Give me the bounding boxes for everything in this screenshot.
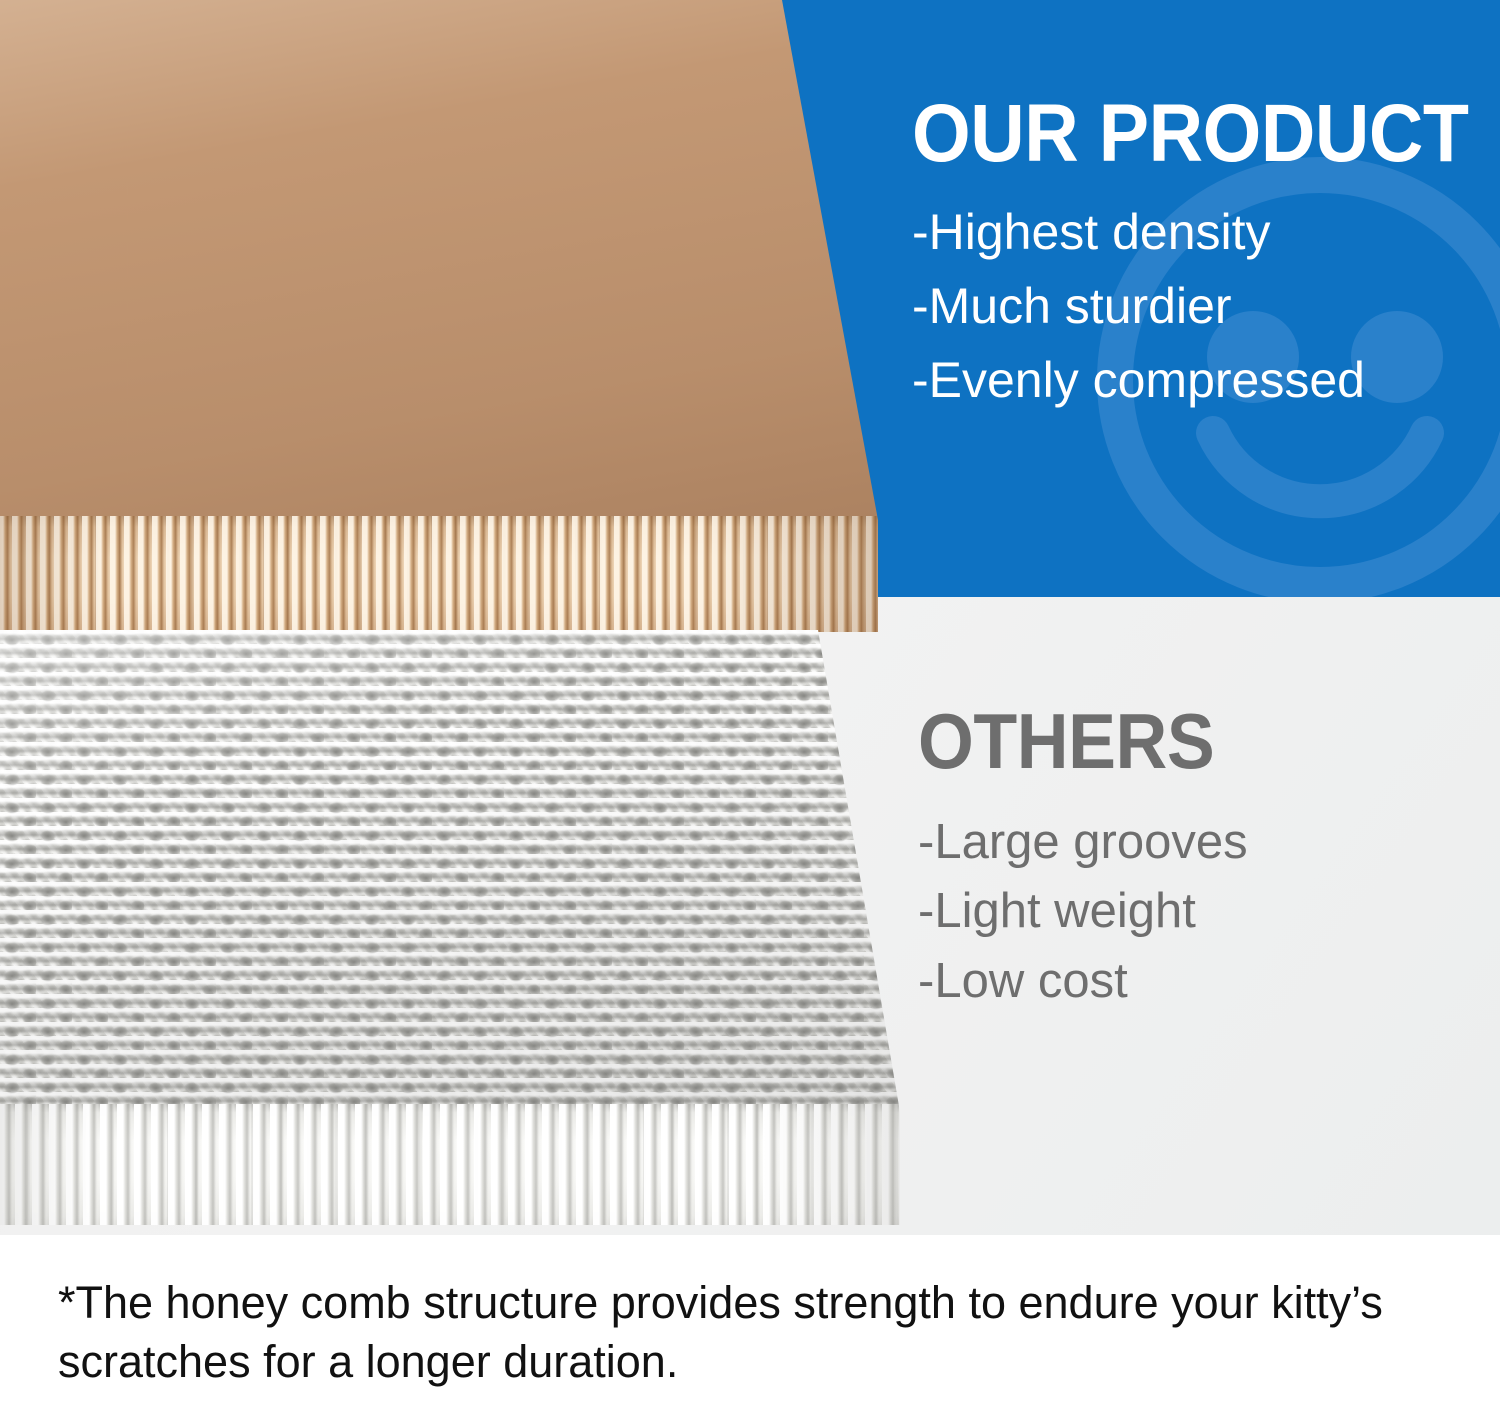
others-text-block: OTHERS -Large grooves -Light weight -Low… [918,706,1494,1016]
others-cardboard-image [0,630,930,1230]
tan-honeycomb-face [0,0,880,522]
our-product-cardboard-image [0,0,880,640]
infographic-canvas: OUR PRODUCT -Highest density -Much sturd… [0,0,1500,1423]
our-product-heading: OUR PRODUCT [912,96,1442,171]
others-bullet-list: -Large grooves -Light weight -Low cost [918,808,1494,1017]
others-bullet-2: -Light weight [918,877,1494,947]
footnote-caption: *The honey comb structure provides stren… [58,1274,1458,1391]
white-honeycomb-face [0,630,930,1110]
others-bullet-1: -Large grooves [918,808,1494,878]
our-product-text-block: OUR PRODUCT -Highest density -Much sturd… [912,96,1488,417]
our-product-bullet-1: -Highest density [912,195,1488,269]
our-product-bullet-2: -Much sturdier [912,269,1488,343]
tan-corrugated-edge [0,516,880,638]
others-heading: OTHERS [918,706,1448,778]
our-product-bullet-list: -Highest density -Much sturdier -Evenly … [912,195,1488,417]
others-bullet-3: -Low cost [918,947,1494,1017]
white-corrugated-edge [0,1104,930,1228]
our-product-bullet-3: -Evenly compressed [912,343,1488,417]
